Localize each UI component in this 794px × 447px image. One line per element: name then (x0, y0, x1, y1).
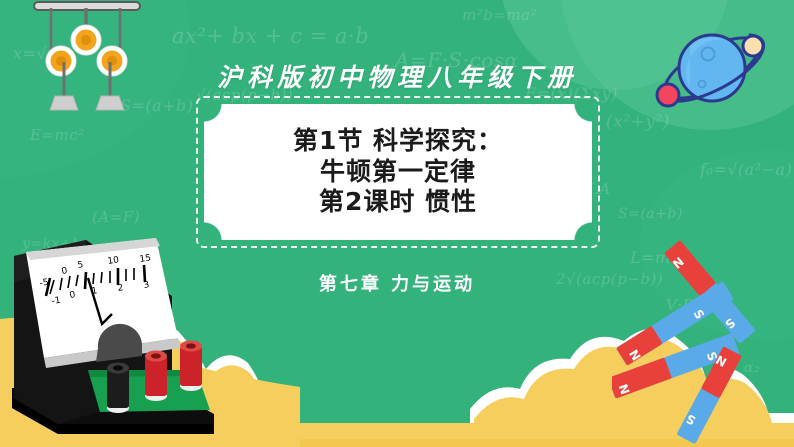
title-card: 第1节 科学探究： 牛顿第一定律 第2课时 惯性 (196, 96, 600, 248)
terminal-black (107, 363, 129, 414)
chalk-formula-15: S=(a+b) (618, 206, 683, 222)
terminal-red-1 (145, 351, 167, 402)
svg-text:15: 15 (139, 253, 152, 265)
svg-text:-1: -1 (51, 296, 61, 307)
magnets-illustration: N S N S N S N S (612, 228, 794, 447)
course-label: 沪科版初中物理八年级下册 (0, 58, 794, 94)
chapter-label: 第七章 力与运动 (0, 270, 794, 296)
chalk-formula-10: f₀=√(a²−a) (700, 160, 792, 179)
svg-text:10: 10 (107, 255, 120, 267)
chalk-formula-3: m²b=ma² (462, 6, 537, 24)
terminal-red-2 (180, 341, 202, 392)
title-card-dashed-border (196, 96, 600, 248)
chalk-formula-9: E=mc² (30, 126, 85, 144)
chalk-formula-16: (A=F) (92, 208, 140, 226)
chalk-formula-1: ax²+ bx + c = a·b (172, 24, 369, 48)
slide-canvas: ax²+ bx + c = a·b A=F·S·cosα m²b=ma² (x²… (0, 0, 794, 447)
